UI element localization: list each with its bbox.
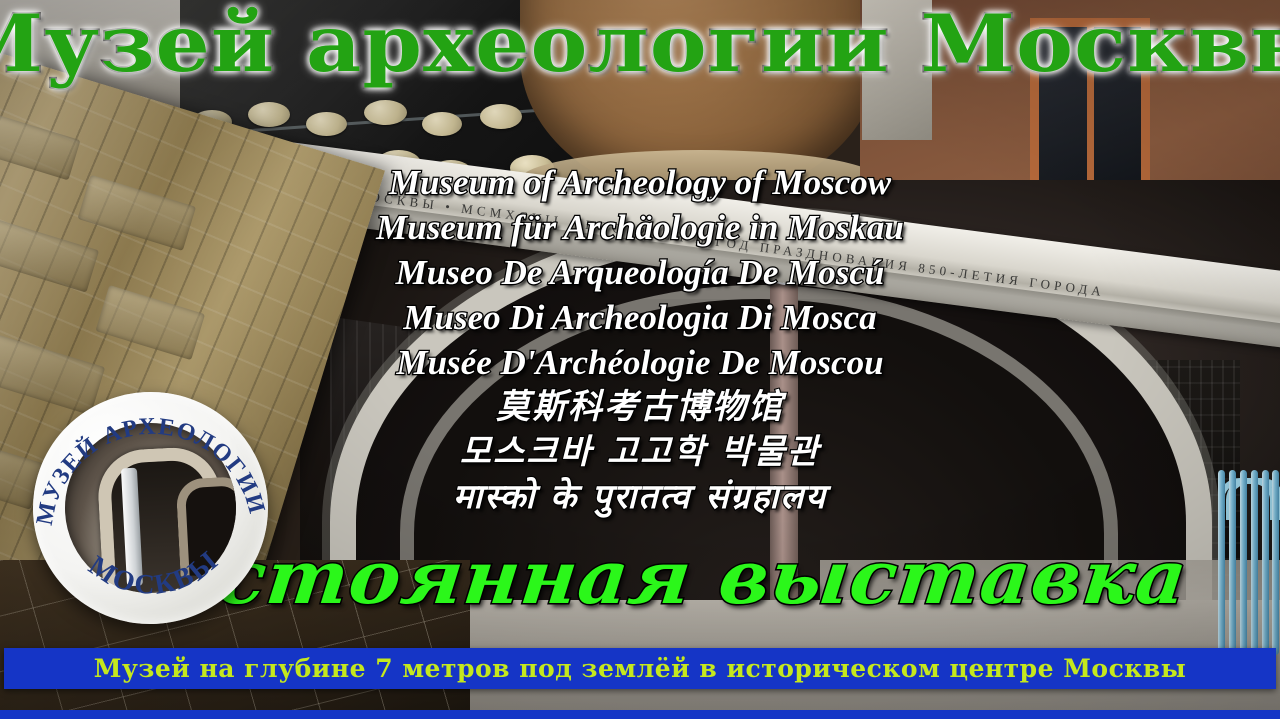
poster-title: Музей археологии Москвы	[0, 0, 1280, 92]
logo-text-ring: МУЗЕЙ АРХЕОЛОГИИ МОСКВЫ	[27, 386, 274, 630]
poster-root: 1а МУЗЕЙ АРХЕОЛОГИИ МОСКВЫ • MCMXCVII • …	[0, 0, 1280, 719]
translation-es: Museo De Arqueología De Moscú	[0, 250, 1280, 295]
translation-de: Museum für Archäologie in Moskau	[0, 205, 1280, 250]
banner-text: Музей на глубине 7 метров под землёй в и…	[94, 654, 1187, 683]
translation-en: Museum of Archeology of Moscow	[0, 160, 1280, 205]
logo-top-text: МУЗЕЙ АРХЕОЛОГИИ	[27, 408, 270, 529]
translation-fr: Musée D'Archéologie De Moscou	[0, 340, 1280, 385]
museum-logo-badge: МУЗЕЙ АРХЕОЛОГИИ МОСКВЫ	[27, 386, 274, 630]
translation-it: Museo Di Archeologia Di Mosca	[0, 295, 1280, 340]
bottom-blue-strip	[0, 710, 1280, 719]
bottom-banner: Музей на глубине 7 метров под землёй в и…	[4, 648, 1276, 689]
logo-bottom-text: МОСКВЫ	[82, 544, 227, 605]
